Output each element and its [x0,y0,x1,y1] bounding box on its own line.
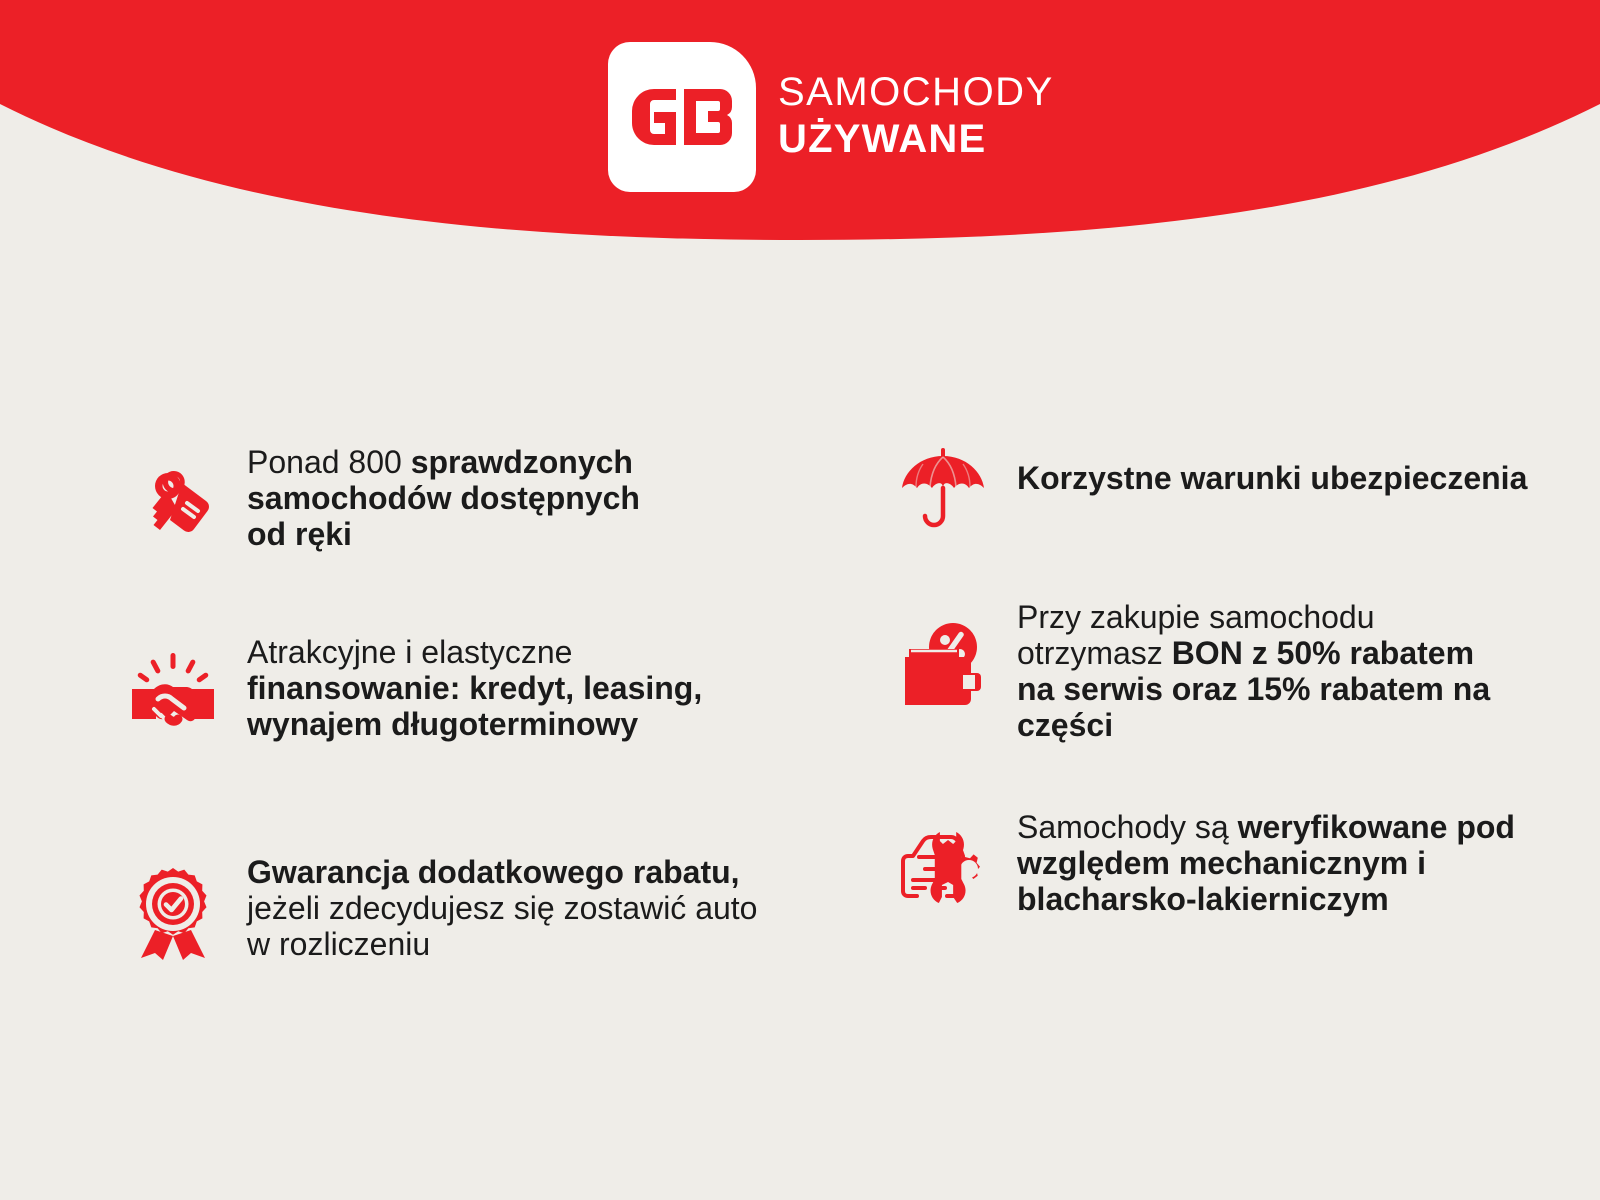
feature-text-bold: Korzystne warunki ubezpieczenia [1017,460,1527,496]
feature-text: Ponad 800 sprawdzonych samochodów dostęp… [247,440,667,552]
logo-line-uzywane: UŻYWANE [778,119,1054,159]
feature-item-voucher: Przy zakupie samochodu otrzymasz BON z 5… [895,595,1595,805]
car-key-icon [125,456,221,552]
feature-text-bold: Gwarancja dodatkowego rabatu, [247,854,740,890]
gb-logo-mark [608,42,756,192]
feature-text: Przy zakupie samochodu otrzymasz BON z 5… [1017,595,1517,743]
feature-text-regular: jeżeli zdecydujesz się zostawić auto w r… [247,890,757,962]
gb-letters-icon [630,89,734,145]
feature-text-regular: Atrakcyjne i elastyczne [247,634,572,670]
wallet-percent-icon [895,617,991,713]
feature-text-regular: Ponad 800 [247,444,411,480]
feature-item-insurance: Korzystne warunki ubezpieczenia [895,440,1595,595]
car-wrench-gear-icon [895,815,991,911]
handshake-icon [125,644,221,740]
feature-text-bold: finansowanie: kredyt, leasing, wynajem d… [247,670,702,742]
feature-item-cars-available: Ponad 800 sprawdzonych samochodów dostęp… [125,440,845,605]
promo-page: SAMOCHODY UŻYWANE [0,0,1600,1200]
logo-wordmark: SAMOCHODY UŻYWANE [778,72,1054,163]
feature-item-guarantee: Gwarancja dodatkowego rabatu, jeżeli zde… [125,850,845,962]
header-banner: SAMOCHODY UŻYWANE [0,0,1600,260]
feature-text: Samochody są weryfikowane pod względem m… [1017,805,1537,917]
brand-logo[interactable]: SAMOCHODY UŻYWANE [608,42,1054,192]
features-column-left: Ponad 800 sprawdzonych samochodów dostęp… [125,440,845,987]
feature-text: Gwarancja dodatkowego rabatu, jeżeli zde… [247,850,787,962]
features-grid: Ponad 800 sprawdzonych samochodów dostęp… [0,440,1600,987]
feature-text: Korzystne warunki ubezpieczenia [1017,440,1527,496]
feature-item-financing: Atrakcyjne i elastyczne finansowanie: kr… [125,630,845,825]
umbrella-icon [895,440,991,536]
feature-text-regular: Samochody są [1017,809,1238,845]
feature-item-verification: Samochody są weryfikowane pod względem m… [895,805,1595,917]
logo-line-samochody: SAMOCHODY [778,72,1054,112]
award-badge-icon [125,864,221,960]
features-column-right: Korzystne warunki ubezpieczenia [875,440,1595,987]
feature-text: Atrakcyjne i elastyczne finansowanie: kr… [247,630,747,742]
